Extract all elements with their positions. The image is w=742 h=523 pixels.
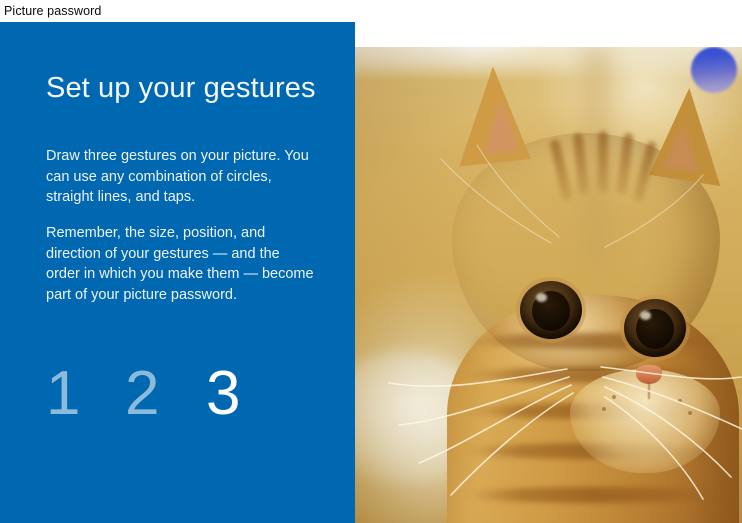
cat-whisker-dot [678,399,682,403]
gesture-step-2: 2 [125,356,159,432]
cat-head [452,133,720,371]
cat-eye-right [624,299,686,357]
page-title: Set up your gestures [46,72,316,105]
picture-area [355,22,742,523]
window-title: Picture password [4,0,101,22]
cat-photo-subject [355,47,742,523]
cat-chest-stripe [465,487,722,503]
cat-forehead-stripe [549,139,573,202]
gesture-drawing-canvas[interactable] [355,47,742,523]
cat-whisker-dot [602,407,606,411]
gesture-step-1: 1 [46,356,80,432]
cat-ear-left-inner [479,98,520,153]
gesture-step-3: 3 [206,356,240,432]
cat-ear-left [449,63,531,166]
instructions-paragraph-2: Remember, the size, position, and direct… [46,223,314,305]
cat-eye-glint-left [536,293,547,302]
picture-password-window: Picture password Set up your gestures Dr… [0,0,742,523]
instructions-panel: Set up your gestures Draw three gestures… [0,22,355,523]
cat-whisker-dot [612,395,616,399]
cat-forehead-stripe [573,133,589,196]
cat-forehead-stripe [598,131,608,193]
cat-mouth [648,383,650,399]
cat-eye-left [520,281,582,339]
cat-eye-glint-right [640,311,651,320]
cat-ear-right-inner [663,121,706,172]
title-bar: Picture password [0,0,742,22]
cat-nose [636,365,662,384]
instructions-paragraph-1: Draw three gestures on your picture. You… [46,146,314,208]
cat-ear-right [649,84,735,186]
cat-forehead-stripe [616,133,633,196]
gesture-step-indicator: 1 2 3 [46,356,306,436]
cat-whisker-dot [688,411,692,415]
